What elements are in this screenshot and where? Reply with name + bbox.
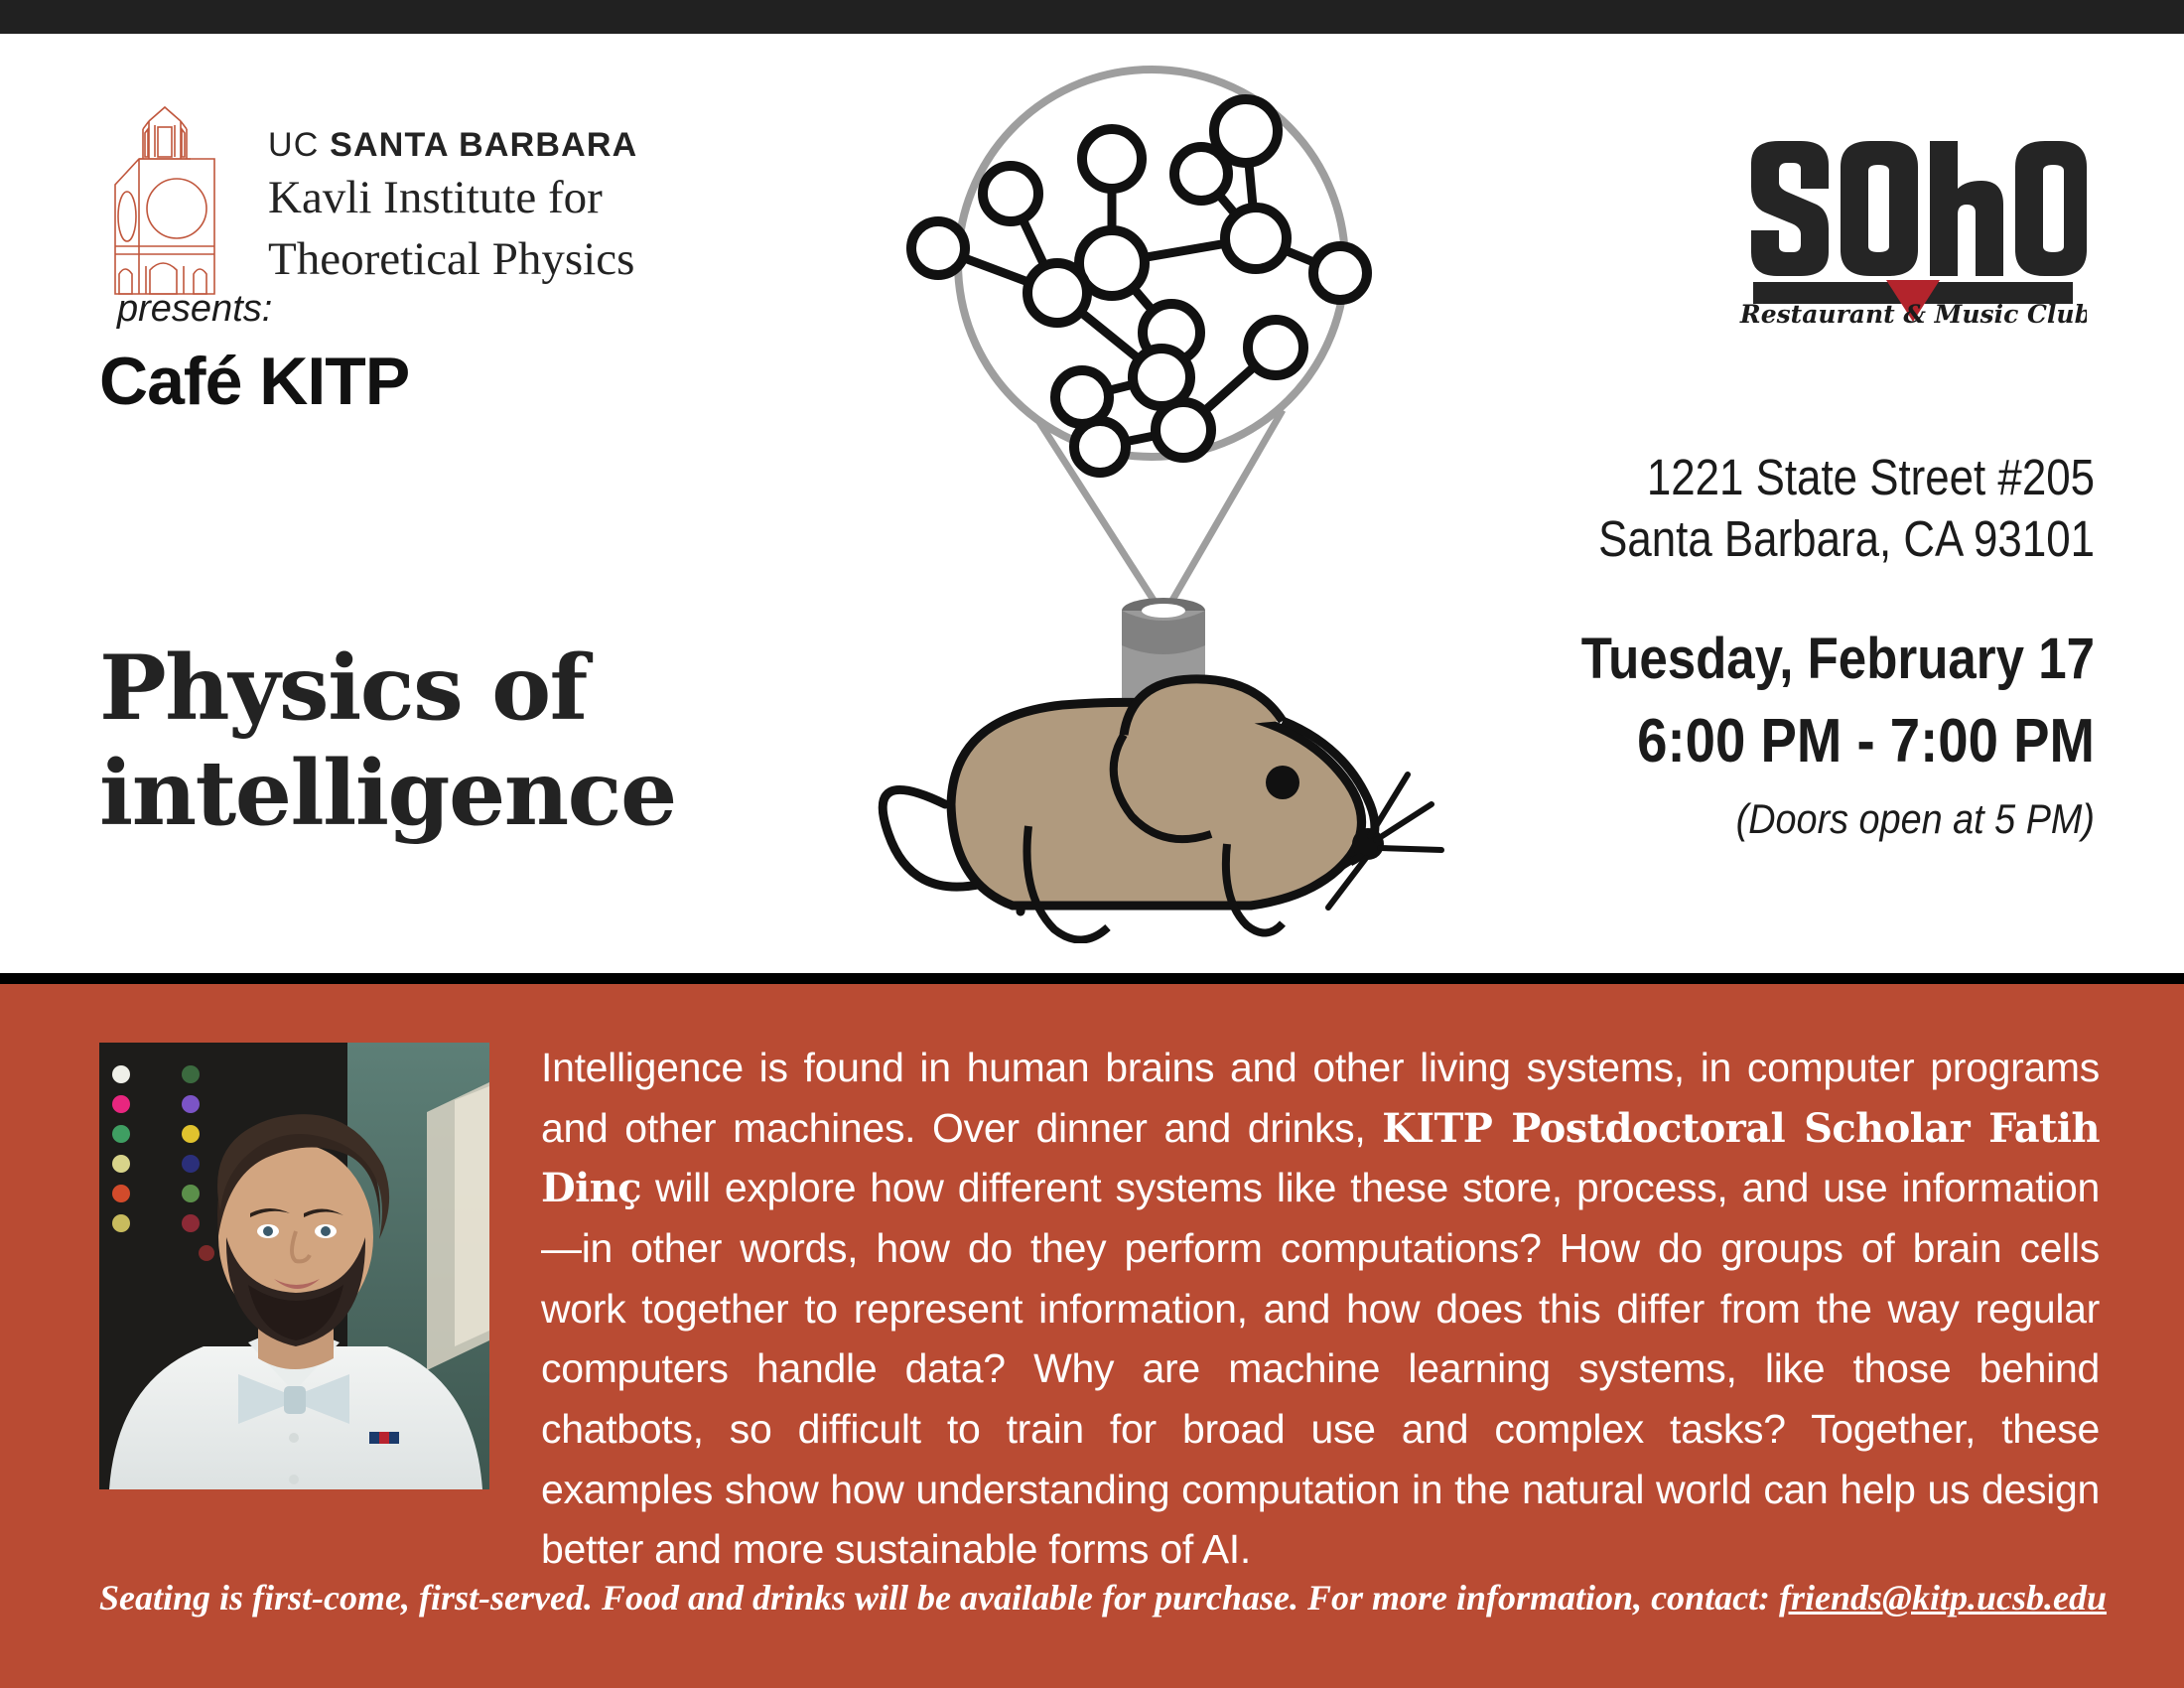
address-line-2: Santa Barbara, CA 93101 — [1215, 508, 2095, 570]
page-title: Physics of intelligence — [99, 635, 874, 846]
address-line-1: 1221 State Street #205 — [1215, 447, 2095, 508]
soho-tagline: Restaurant & Music Club — [1739, 300, 2087, 326]
institute-name-line2: Theoretical Physics — [268, 232, 637, 287]
footer-note: Seating is first-come, first-served. Foo… — [99, 1577, 2095, 1618]
event-description: Intelligence is found in human brains an… — [541, 1038, 2100, 1580]
title-line-2: intelligence — [99, 741, 874, 846]
section-divider — [0, 973, 2184, 984]
event-date: Tuesday, February 17 — [1195, 624, 2095, 696]
contact-email-link[interactable]: friends@kitp.ucsb.edu — [1779, 1578, 2107, 1618]
soho-logo: Restaurant & Music Club — [1739, 127, 2087, 326]
ucsb-line: UC SANTA BARBARA — [268, 127, 637, 164]
description-part-2: will explore how different systems like … — [541, 1165, 2100, 1572]
kitp-tower-icon — [99, 99, 230, 300]
top-dark-bar — [0, 0, 2184, 34]
soho-wordmark — [1751, 141, 2087, 276]
presents-label: presents: — [117, 288, 272, 331]
shirt-brand-logo — [369, 1432, 399, 1444]
uc-text: UC — [268, 126, 330, 164]
kitp-logo-wordmark: UC SANTA BARBARA Kavli Institute for The… — [268, 127, 637, 287]
kitp-logo-block: UC SANTA BARBARA Kavli Institute for The… — [99, 99, 637, 300]
doors-open-note: (Doors open at 5 PM) — [1174, 793, 2095, 846]
santa-barbara-text: SANTA BARBARA — [330, 126, 637, 164]
venue-info-block: 1221 State Street #205 Santa Barbara, CA… — [1072, 447, 2095, 845]
series-title: Café KITP — [99, 343, 409, 420]
institute-name-line1: Kavli Institute for — [268, 171, 637, 225]
title-line-1: Physics of — [99, 635, 874, 741]
footer-text: Seating is first-come, first-served. Foo… — [99, 1578, 1779, 1618]
event-time: 6:00 PM - 7:00 PM — [1195, 704, 2095, 779]
speaker-portrait — [99, 1043, 489, 1489]
